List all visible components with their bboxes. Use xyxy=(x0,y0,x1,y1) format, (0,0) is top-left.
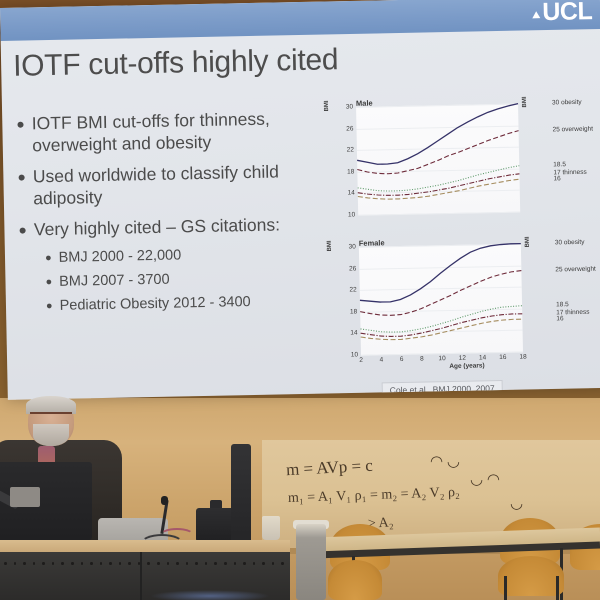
chart-line xyxy=(356,104,519,165)
chart-line xyxy=(357,131,520,175)
x-axis-tick: 14 xyxy=(479,354,486,361)
series-label: 16 xyxy=(553,175,560,182)
series-label: 25 overweight xyxy=(555,266,596,274)
lectern-vent xyxy=(4,562,284,567)
y-axis-tick: 14 xyxy=(347,190,354,197)
list-item-label: Pediatric Obesity 2012 - 3400 xyxy=(59,293,250,316)
chart-panel-male: MaleBMIBMI10141822263030 obesity25 overw… xyxy=(326,92,597,235)
water-glass xyxy=(262,516,280,540)
whiteboard-doodle-a: ◠ ◡ xyxy=(430,452,460,471)
whiteboard-doodle-b: ◡ ◠ xyxy=(470,470,500,489)
projector-glow xyxy=(150,590,270,600)
list-item-label: BMJ 2007 - 3700 xyxy=(59,271,170,292)
chart-line xyxy=(360,319,522,340)
series-label: 18.5 xyxy=(556,301,569,308)
y-axis-tick: 18 xyxy=(347,168,354,175)
y-axis-tick: 18 xyxy=(350,308,357,315)
y-axis-label-right: BMI xyxy=(522,96,528,107)
series-label: 18.5 xyxy=(553,161,566,168)
bullet-list: ● IOTF BMI cut-offs for thinness, overwe… xyxy=(16,107,325,322)
presenter-glasses xyxy=(30,412,72,420)
plot-area: 1014182226302468101214161830 obesity25 o… xyxy=(359,244,523,355)
x-axis-tick: 10 xyxy=(438,355,445,362)
list-item: ● BMJ 2000 - 22,000 xyxy=(45,244,324,269)
y-axis-tick: 10 xyxy=(351,351,358,358)
y-axis-tick: 30 xyxy=(349,243,356,250)
bullet-icon: ● xyxy=(45,249,52,268)
chart-line xyxy=(360,306,522,333)
whiteboard-doodle-c: ◡ xyxy=(510,494,523,513)
presenter-beard xyxy=(33,424,69,446)
ucl-triangle-icon xyxy=(532,11,540,18)
series-label: 30 obesity xyxy=(552,99,582,107)
y-axis-label: BMI xyxy=(324,100,330,111)
x-axis-tick: 18 xyxy=(519,353,526,360)
chart-line xyxy=(358,179,520,200)
waste-bin xyxy=(296,524,326,600)
x-axis-tick: 12 xyxy=(459,355,466,362)
projected-slide: UCL IOTF cut-offs highly cited ● IOTF BM… xyxy=(0,0,600,400)
list-item-label: Used worldwide to classify child adiposi… xyxy=(33,160,323,210)
chart-panel-female: FemaleBMIBMI1014182226302468101214161830… xyxy=(329,232,600,375)
ucl-wordmark: UCL xyxy=(542,0,592,26)
x-axis-tick: 2 xyxy=(359,357,363,364)
list-item-label: BMJ 2000 - 22,000 xyxy=(59,247,182,268)
slide-header-banner: UCL xyxy=(0,0,600,41)
microphone-head xyxy=(161,496,168,505)
y-axis-tick: 22 xyxy=(347,147,354,154)
x-axis-tick: 6 xyxy=(400,356,404,363)
y-axis-label-right: BMI xyxy=(525,236,531,247)
equipment-dock xyxy=(196,508,234,542)
x-axis-tick: 8 xyxy=(420,356,424,363)
list-item: ● Very highly cited – GS citations: xyxy=(18,213,323,241)
chair xyxy=(498,556,564,596)
chart-line xyxy=(360,314,522,337)
list-item: ● Pediatric Obesity 2012 - 3400 xyxy=(46,292,325,317)
chair-leg xyxy=(504,576,507,600)
chart-line xyxy=(359,244,522,303)
lectern-seam xyxy=(140,552,142,600)
chart-line xyxy=(359,271,522,316)
x-axis-label: Age (years) xyxy=(449,362,485,370)
series-label: 30 obesity xyxy=(555,239,585,247)
page-title: IOTF cut-offs highly cited xyxy=(13,43,339,84)
list-item: ● BMJ 2007 - 3700 xyxy=(45,268,324,293)
list-item: ● IOTF BMI cut-offs for thinness, overwe… xyxy=(16,107,322,157)
bullet-icon: ● xyxy=(16,113,25,157)
speaker xyxy=(231,444,251,550)
series-label: 16 xyxy=(556,315,563,322)
chair xyxy=(328,560,382,600)
chair-leg xyxy=(556,576,559,600)
bullet-icon: ● xyxy=(45,273,52,292)
chart-line xyxy=(357,166,519,192)
ucl-logo: UCL xyxy=(532,0,592,26)
monitor-mount xyxy=(10,487,40,507)
bullet-icon: ● xyxy=(18,219,27,241)
series-label: 25 overweight xyxy=(552,126,593,134)
list-item: ● Used worldwide to classify child adipo… xyxy=(17,160,323,210)
x-axis-tick: 16 xyxy=(499,354,506,361)
y-axis-tick: 26 xyxy=(346,125,353,132)
bullet-icon: ● xyxy=(17,166,26,210)
y-axis-label: BMI xyxy=(327,240,333,251)
y-axis-tick: 10 xyxy=(348,211,355,218)
x-axis-tick: 4 xyxy=(380,356,384,363)
lecture-hall-photo: m = AVp = c m₁ = A₁ V₁ ρ₁ = m₂ = A₂ V₂ ρ… xyxy=(0,0,600,600)
y-axis-tick: 14 xyxy=(350,330,357,337)
y-axis-tick: 30 xyxy=(346,103,353,110)
bmi-figure: MaleBMIBMI10141822263030 obesity25 overw… xyxy=(326,92,600,377)
chart-line xyxy=(357,174,519,196)
bullet-icon: ● xyxy=(46,297,53,316)
plot-area: 10141822263030 obesity25 overweight18.51… xyxy=(356,104,520,215)
list-item-label: Very highly cited – GS citations: xyxy=(34,214,280,241)
y-axis-tick: 26 xyxy=(349,265,356,272)
list-item-label: IOTF BMI cut-offs for thinness, overweig… xyxy=(32,107,322,157)
y-axis-tick: 22 xyxy=(349,287,356,294)
